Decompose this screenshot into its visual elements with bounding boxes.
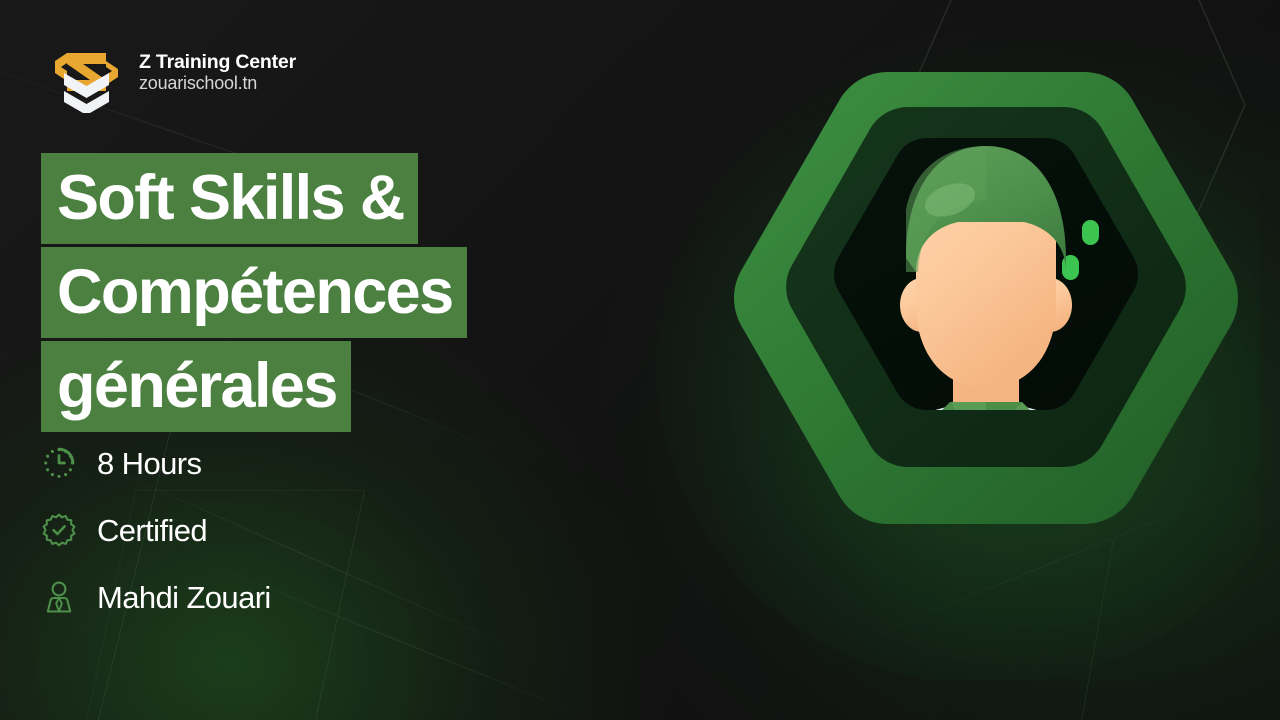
meta-label-instructor: Mahdi Zouari	[97, 582, 271, 613]
page-title: Soft Skills & Compétences générales	[41, 153, 467, 432]
headline-line: générales	[41, 341, 467, 432]
headline-line-3: générales	[41, 341, 351, 432]
meta-item-duration: 8 Hours	[41, 440, 271, 486]
meta-label-certified: Certified	[97, 515, 207, 546]
headline-line: Soft Skills &	[41, 153, 467, 244]
brand-logo[interactable]: Z Training Center zouarischool.tn	[47, 33, 296, 113]
meta-item-certified: Certified	[41, 507, 271, 553]
course-meta-list: 8 Hours Certified Mahdi Zouari	[41, 440, 271, 620]
certificate-badge-icon	[41, 512, 77, 548]
team-soft-skills-hexagon-illustration	[620, 50, 1260, 680]
brand-title: Z Training Center	[139, 52, 296, 72]
headline-line: Compétences	[41, 247, 467, 338]
poster-canvas: Z Training Center zouarischool.tn Soft S…	[0, 0, 1280, 720]
meta-label-duration: 8 Hours	[97, 448, 201, 479]
meta-item-instructor: Mahdi Zouari	[41, 574, 271, 620]
person-instructor-icon	[41, 579, 77, 615]
z-book-logo-icon	[47, 33, 126, 113]
headline-line-1: Soft Skills &	[41, 153, 418, 244]
brand-website: zouarischool.tn	[139, 74, 296, 94]
clock-icon	[41, 445, 77, 481]
headline-line-2: Compétences	[41, 247, 467, 338]
